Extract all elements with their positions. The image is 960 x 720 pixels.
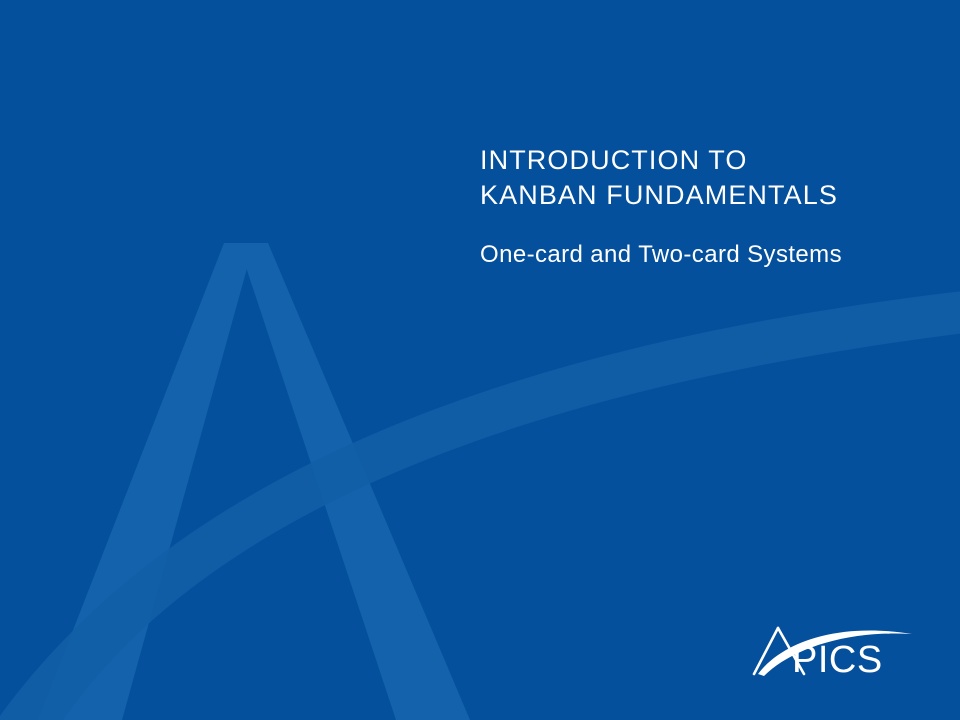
title-slide: INTRODUCTION TO KANBAN FUNDAMENTALS One-… — [0, 0, 960, 720]
page-title: INTRODUCTION TO KANBAN FUNDAMENTALS — [480, 143, 940, 213]
apics-logo: PICS — [752, 612, 920, 684]
title-line-2: KANBAN FUNDAMENTALS — [480, 178, 940, 213]
slide-subtitle: One-card and Two-card Systems — [480, 240, 842, 270]
title-line-1: INTRODUCTION TO — [480, 143, 940, 178]
watermark-letter-a — [38, 243, 470, 720]
apics-wordmark: PICS — [792, 639, 883, 681]
